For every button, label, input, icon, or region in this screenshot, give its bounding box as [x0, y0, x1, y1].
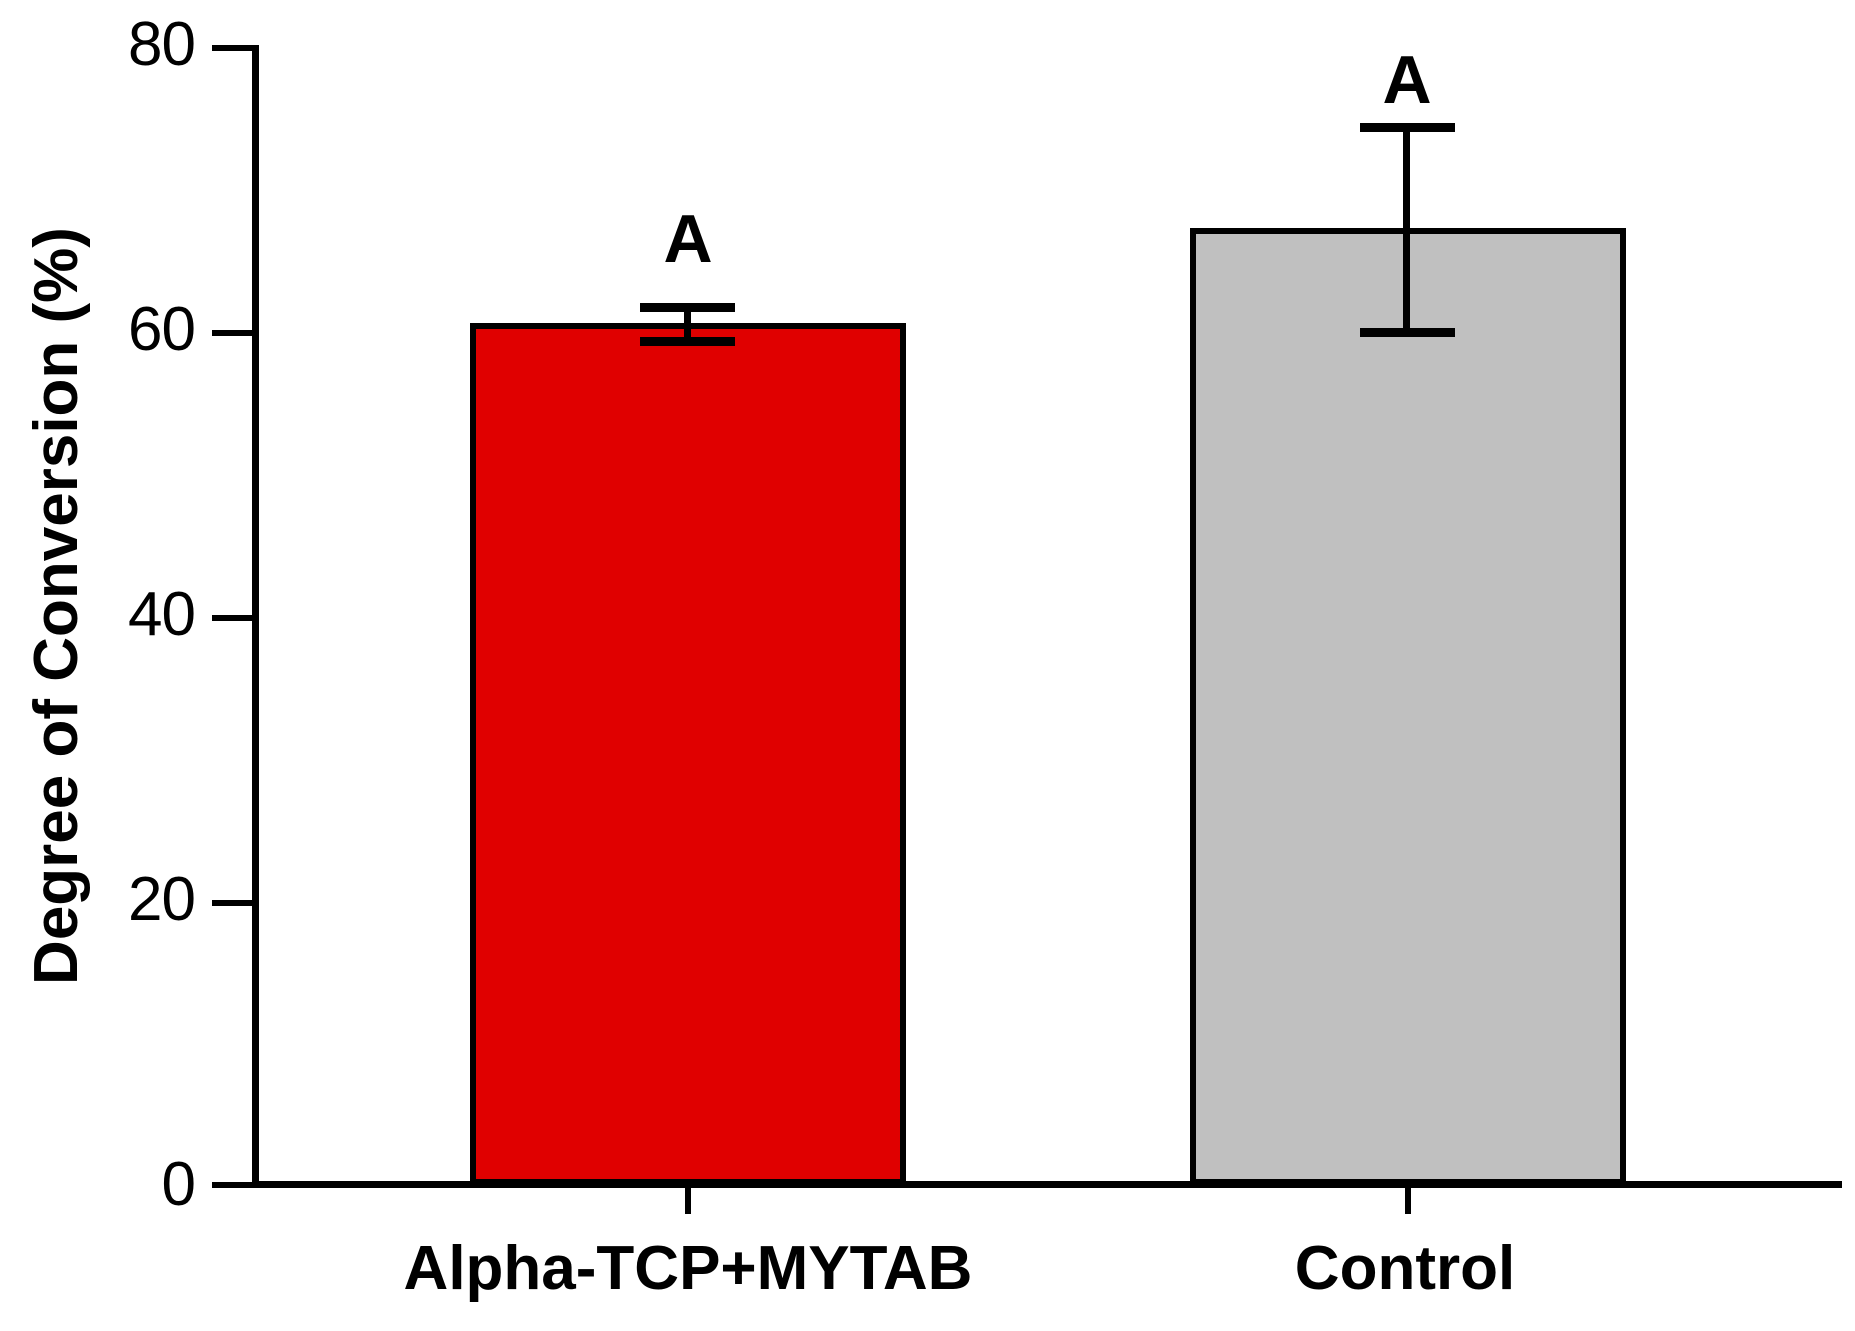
y-tick-mark-80: [212, 45, 253, 51]
y-tick-label-60: 60: [0, 299, 195, 361]
y-axis-line: [252, 45, 259, 1188]
x-axis-label-control: Control: [1105, 1238, 1705, 1300]
errorbar-cap-upper-control: [1360, 123, 1455, 132]
errorbar-cap-lower-control: [1360, 328, 1455, 337]
x-tick-mark-alpha-tcp-mytab: [685, 1188, 691, 1214]
y-tick-mark-0: [212, 1182, 253, 1188]
y-tick-mark-40: [212, 615, 253, 621]
x-axis-label-alpha-tcp-mytab: Alpha-TCP+MYTAB: [288, 1238, 1088, 1300]
y-tick-label-80: 80: [0, 14, 195, 76]
bar-alpha-tcp-mytab: [470, 323, 906, 1185]
x-tick-mark-control: [1405, 1188, 1411, 1214]
bar-control: [1190, 228, 1626, 1185]
y-tick-mark-20: [212, 900, 253, 906]
y-tick-mark-60: [212, 330, 253, 336]
errorbar-stem-control: [1403, 126, 1410, 336]
significance-letter-control: A: [1307, 46, 1507, 114]
errorbar-cap-upper-alpha-tcp-mytab: [640, 303, 735, 312]
y-tick-label-20: 20: [0, 869, 195, 931]
significance-letter-alpha-tcp-mytab: A: [588, 205, 788, 273]
y-tick-label-40: 40: [0, 584, 195, 646]
errorbar-cap-lower-alpha-tcp-mytab: [640, 337, 735, 346]
y-tick-label-0: 0: [0, 1154, 195, 1216]
bar-chart: Degree of Conversion (%) 80 60 40 20 0 A…: [0, 0, 1855, 1331]
